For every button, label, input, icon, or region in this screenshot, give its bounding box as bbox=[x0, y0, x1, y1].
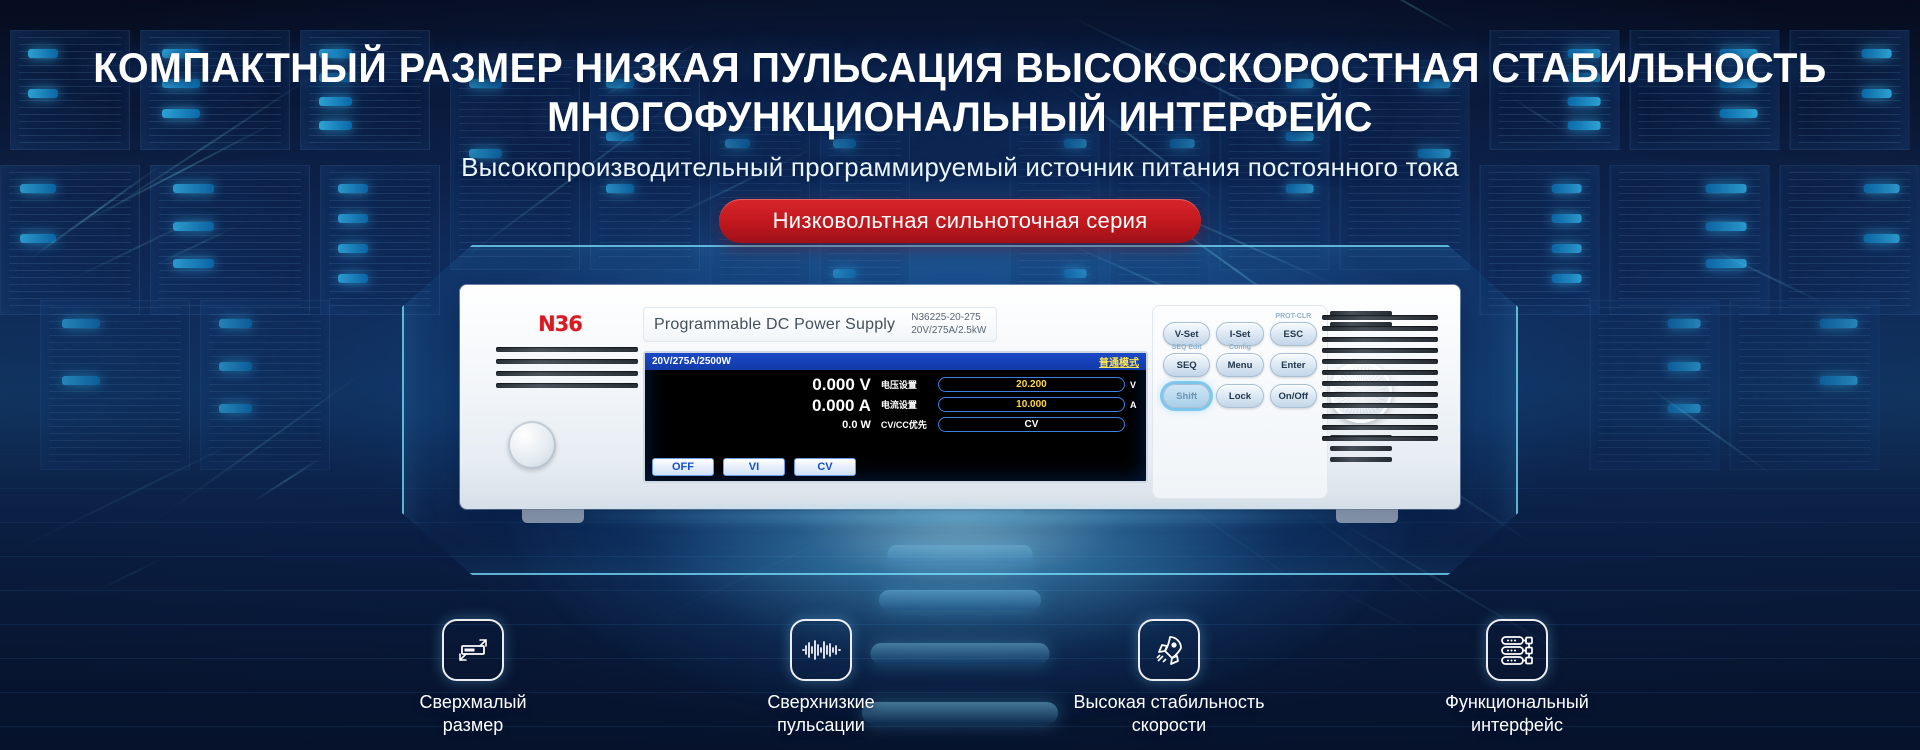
model-rating: 20V/275A/2.5kW bbox=[911, 325, 986, 336]
brand-logo-text: N36 bbox=[538, 312, 582, 336]
right-vent-grille bbox=[1322, 315, 1438, 447]
dc-power-supply-device: N36 Programmable DC Power Supply N36225-… bbox=[460, 285, 1460, 509]
key-alt-label: PROT-CLR bbox=[1275, 313, 1311, 320]
rack-led bbox=[338, 244, 369, 253]
power-knob[interactable] bbox=[508, 421, 556, 469]
rack-led bbox=[1668, 319, 1701, 328]
device-right-panel: V-SetI-SetPROT-CLRESCSEQ EditSEQConfigMe… bbox=[1148, 295, 1446, 499]
device-title: Programmable DC Power Supply bbox=[654, 316, 895, 334]
rack-led bbox=[1820, 376, 1858, 385]
rack-led bbox=[62, 376, 100, 385]
compact-size-icon bbox=[442, 619, 504, 681]
voltage-readout: 0.000 V bbox=[652, 375, 871, 396]
key-shift[interactable]: Shift bbox=[1163, 384, 1210, 408]
display-header: 20V/275A/2500W 普通模式 bbox=[645, 353, 1146, 370]
product-stage: N36 Programmable DC Power Supply N36225-… bbox=[430, 285, 1490, 535]
key-label: SEQ bbox=[1177, 360, 1197, 371]
series-badge: Низковольтная сильноточная серия bbox=[719, 199, 1202, 243]
feature-label: Высокая стабильностьскорости bbox=[1069, 691, 1269, 736]
key-label: On/Off bbox=[1279, 391, 1309, 402]
setting-value[interactable]: CV bbox=[938, 417, 1125, 432]
setting-row[interactable]: 电流设置10.000A bbox=[881, 397, 1139, 412]
key-alt-label: SEQ Edit bbox=[1172, 344, 1202, 351]
runway-pad bbox=[879, 590, 1041, 610]
rack-led bbox=[1286, 184, 1314, 193]
rack-led bbox=[338, 184, 369, 193]
setting-label: 电压设置 bbox=[881, 378, 933, 391]
power-readout: 0.0 W bbox=[652, 419, 871, 431]
feature-list: СверхмалыйразмерСверхнизкиепульсацииВысо… bbox=[0, 619, 1920, 736]
device-display[interactable]: 20V/275A/2500W 普通模式 0.000 V 0.000 A 0.0 … bbox=[643, 351, 1148, 483]
rack-led bbox=[219, 404, 252, 413]
key-menu[interactable]: ConfigMenu bbox=[1216, 353, 1263, 377]
promo-banner: КОМПАКТНЫЙ РАЗМЕР НИЗКАЯ ПУЛЬСАЦИЯ ВЫСОК… bbox=[0, 0, 1920, 750]
feature-item: Сверхмалыйразмер bbox=[373, 619, 573, 736]
model-number: N36225-20-275 bbox=[911, 312, 981, 323]
feature-item: Высокая стабильностьскорости bbox=[1069, 619, 1269, 736]
display-tab-off[interactable]: OFF bbox=[652, 458, 714, 476]
rack-led bbox=[1864, 184, 1900, 193]
rack-led bbox=[62, 319, 100, 328]
rack-led bbox=[219, 319, 252, 328]
key-v-set[interactable]: V-Set bbox=[1163, 322, 1210, 346]
setting-label: 电流设置 bbox=[881, 398, 933, 411]
rack-led bbox=[338, 274, 369, 283]
server-rack-icon bbox=[1486, 619, 1548, 681]
headline-line-2: МНОГОФУНКЦИОНАЛЬНЫЙ ИНТЕРФЕЙС bbox=[58, 93, 1863, 142]
rack-led bbox=[606, 184, 634, 193]
current-readout: 0.000 A bbox=[652, 396, 871, 417]
rack-led bbox=[219, 362, 252, 371]
rack-led bbox=[1820, 319, 1858, 328]
rack-led bbox=[173, 259, 214, 268]
setting-unit: V bbox=[1130, 380, 1139, 390]
feature-item: Функциональныйинтерфейс bbox=[1417, 619, 1617, 736]
key-esc[interactable]: PROT-CLRESC bbox=[1270, 322, 1317, 346]
subtitle: Высокопроизводительный программируемый и… bbox=[0, 152, 1920, 183]
badge-container: Низковольтная сильноточная серия bbox=[0, 199, 1920, 243]
key-on-off[interactable]: On/Off bbox=[1270, 384, 1317, 408]
setting-unit: A bbox=[1130, 400, 1139, 410]
rack-led bbox=[173, 184, 214, 193]
setting-row[interactable]: CV/CC优先CV bbox=[881, 417, 1139, 432]
key-label: Lock bbox=[1229, 391, 1251, 402]
rack-led bbox=[1706, 184, 1747, 193]
key-i-set[interactable]: I-Set bbox=[1216, 322, 1263, 346]
waveform-icon bbox=[790, 619, 852, 681]
key-enter[interactable]: Enter bbox=[1270, 353, 1317, 377]
setting-row[interactable]: 电压设置20.200V bbox=[881, 377, 1139, 392]
display-tab-vi[interactable]: VI bbox=[723, 458, 785, 476]
setting-value[interactable]: 20.200 bbox=[938, 377, 1125, 392]
keypad: V-SetI-SetPROT-CLRESCSEQ EditSEQConfigMe… bbox=[1152, 305, 1328, 499]
feature-item: Сверхнизкиепульсации bbox=[721, 619, 921, 736]
rack-led bbox=[20, 184, 56, 193]
feature-label: Сверхнизкиепульсации bbox=[721, 691, 921, 736]
display-mode[interactable]: 普通模式 bbox=[1099, 354, 1139, 369]
device-model: N36225-20-275 20V/275A/2.5kW bbox=[911, 312, 986, 337]
rack-led bbox=[1552, 184, 1583, 193]
key-alt-label: Config bbox=[1229, 344, 1251, 351]
background-light-streak bbox=[1361, 0, 1461, 34]
page-title: КОМПАКТНЫЙ РАЗМЕР НИЗКАЯ ПУЛЬСАЦИЯ ВЫСОК… bbox=[0, 44, 1920, 141]
measurement-readouts: 0.000 V 0.000 A 0.0 W bbox=[652, 375, 881, 454]
display-body: 0.000 V 0.000 A 0.0 W 电压设置20.200V电流设置10.… bbox=[645, 370, 1146, 458]
display-tab-cv[interactable]: CV bbox=[794, 458, 856, 476]
key-label: Shift bbox=[1176, 391, 1197, 402]
setting-value[interactable]: 10.000 bbox=[938, 397, 1125, 412]
device-title-bar: Programmable DC Power Supply N36225-20-2… bbox=[643, 307, 997, 342]
key-lock[interactable]: Lock bbox=[1216, 384, 1263, 408]
rack-led bbox=[1668, 362, 1701, 371]
setting-rows: 电压设置20.200V电流设置10.000ACV/CC优先CV bbox=[881, 375, 1139, 454]
feature-label: Сверхмалыйразмер bbox=[373, 691, 573, 736]
key-label: I-Set bbox=[1230, 329, 1251, 340]
rack-led bbox=[1552, 244, 1583, 253]
device-left-panel: N36 bbox=[474, 295, 635, 499]
key-label: Menu bbox=[1228, 360, 1253, 371]
key-label: V-Set bbox=[1175, 329, 1199, 340]
keypad-grid: V-SetI-SetPROT-CLRESCSEQ EditSEQConfigMe… bbox=[1163, 322, 1317, 408]
left-vent-grille bbox=[496, 347, 638, 395]
rocket-icon bbox=[1138, 619, 1200, 681]
feature-label: Функциональныйинтерфейс bbox=[1417, 691, 1617, 736]
device-center-panel: Programmable DC Power Supply N36225-20-2… bbox=[635, 295, 1148, 499]
display-tabs: OFFVICV bbox=[645, 458, 1146, 481]
brand-logo: N36 bbox=[508, 311, 612, 337]
display-rating: 20V/275A/2500W bbox=[652, 356, 731, 367]
setting-label: CV/CC优先 bbox=[881, 418, 933, 431]
rack-led bbox=[1552, 274, 1583, 283]
key-label: ESC bbox=[1284, 329, 1304, 340]
headline-line-1: КОМПАКТНЫЙ РАЗМЕР НИЗКАЯ ПУЛЬСАЦИЯ ВЫСОК… bbox=[58, 44, 1863, 93]
key-label: Enter bbox=[1281, 360, 1305, 371]
key-seq[interactable]: SEQ EditSEQ bbox=[1163, 353, 1210, 377]
